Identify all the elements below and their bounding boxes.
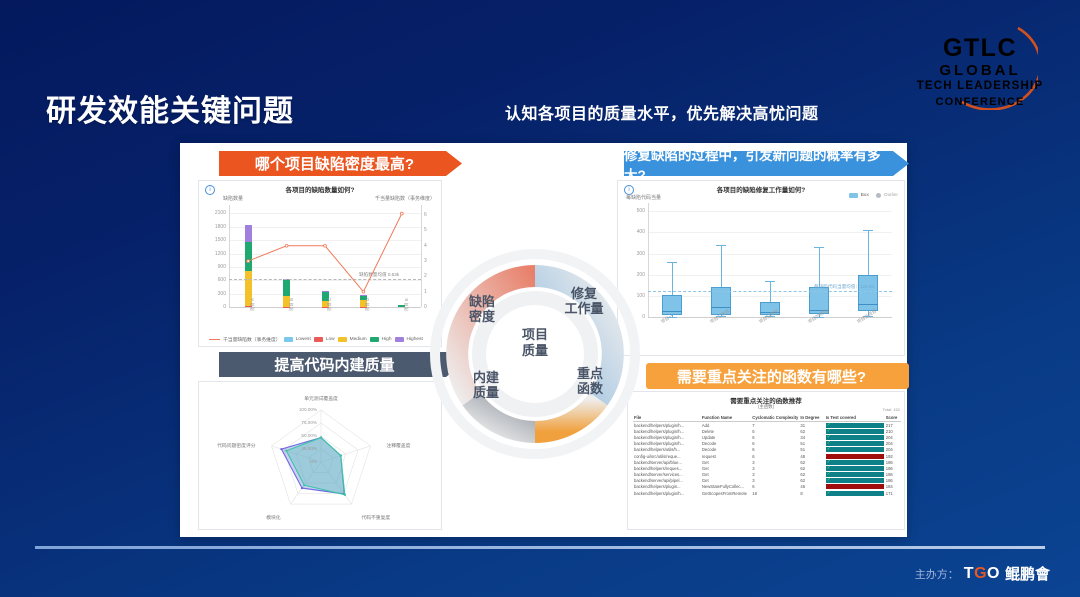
radar-axis-label: 单元测试覆盖度 xyxy=(304,395,338,402)
cell-test-covered xyxy=(825,453,885,459)
cell-in-degree: 31 xyxy=(799,422,824,429)
axis-line xyxy=(229,205,230,307)
cell-score: 217 xyxy=(885,422,901,429)
radar-chart: 单元测试覆盖度注释覆盖度代码不重复度模块化代码问题密度评分0%25.00%50.… xyxy=(199,396,443,528)
table-subtitle: (主函数) xyxy=(628,404,904,410)
y-tick: 2100 xyxy=(203,210,226,216)
x-tick: 项目 A xyxy=(250,298,256,311)
box xyxy=(662,295,682,316)
table-header-cell: Is Test covered xyxy=(825,414,885,422)
table-total: Total: 152 xyxy=(883,407,900,412)
x-tick: 项目 C xyxy=(327,298,333,311)
y-tick: 1500 xyxy=(203,237,226,243)
y-tick: 900 xyxy=(203,264,226,270)
chart-card-defect-count: i 各项目的缺陷数量如何? 缺陷数量 千当量缺陷数（事务维度） 21001800… xyxy=(198,180,442,347)
footer-divider xyxy=(35,546,1045,549)
legend-swatch xyxy=(284,337,293,342)
radar-tick: 75.00% xyxy=(301,420,317,425)
check-icon: ✓ xyxy=(827,472,831,477)
cell-test-covered: ✓ xyxy=(825,459,885,465)
y-tick: 0 xyxy=(203,304,226,310)
radar-axis-label: 注释覆盖度 xyxy=(386,442,410,449)
chart-card-radar: 单元测试覆盖度注释覆盖度代码不重复度模块化代码问题密度评分0%25.00%50.… xyxy=(198,381,442,530)
chart-card-fix-effort: i 各项目的缺陷修复工作量如何? 每缺陷代码当量 BoxOutlier 0100… xyxy=(617,180,905,356)
bar-segment xyxy=(245,225,252,242)
y-tick: 1200 xyxy=(203,251,226,257)
average-line-label: 缺陷数量均值 0.63k xyxy=(359,272,399,278)
logo-line-global: GLOBAL xyxy=(914,62,1046,79)
page-title: 研发效能关键问题 xyxy=(46,86,294,130)
table-header-cell: Score xyxy=(885,414,901,422)
cell-test-covered: ✓ xyxy=(825,490,885,496)
median-line xyxy=(662,311,682,312)
stacked-bar xyxy=(283,209,290,307)
footer-brand-cn: 鲲鹏會 xyxy=(1005,563,1050,584)
radar-tick: 25.00% xyxy=(301,446,317,451)
cell-function: NewStateFullyCollec... xyxy=(701,484,751,490)
median-line xyxy=(858,304,878,305)
cell-function: GetScopesFromRemote xyxy=(701,490,751,496)
average-line xyxy=(229,279,421,280)
legend-label: Lowest xyxy=(296,337,311,342)
footer: 主办方： TGO 鲲鹏會 xyxy=(915,563,1050,584)
logo-line-gtlc: GTLC xyxy=(914,34,1046,63)
cell-cyclomatic-complexity: 7 xyxy=(751,422,799,429)
y-tick: 400 xyxy=(624,229,645,235)
y-tick: 600 xyxy=(203,277,226,283)
bar-segment xyxy=(360,295,367,296)
check-icon: ✓ xyxy=(827,429,831,434)
cell-test-covered: ✓ xyxy=(825,447,885,453)
whisker-cap xyxy=(667,262,677,263)
radar-svg xyxy=(199,396,443,528)
cell-test-covered: ✓ xyxy=(825,441,885,447)
whisker-cap xyxy=(716,245,726,246)
bar-segment xyxy=(283,280,290,296)
legend-label: Highest xyxy=(407,337,423,342)
gridline xyxy=(648,254,892,255)
table-row[interactable]: backend/helpers/plugin/h...GetScopesFrom… xyxy=(633,490,901,496)
slide-root: 研发效能关键问题 认知各项目的质量水平，优先解决高忧问题 GTLC GLOBAL… xyxy=(0,0,1080,597)
key-functions-table: FileFunction NameCyclomatic ComplexityIn… xyxy=(633,414,901,496)
axis-line xyxy=(421,205,422,307)
legend-defect-count: 千当量缺陷数（事务维度）LowestLowMediumHighHighest xyxy=(209,336,423,343)
legend-label: Low xyxy=(326,337,335,342)
stacked-bar xyxy=(322,209,329,307)
check-icon: ✓ xyxy=(827,478,831,483)
y-tick: 300 xyxy=(203,291,226,297)
whisker-cap xyxy=(765,281,775,282)
check-icon: ✓ xyxy=(827,423,831,428)
radar-tick: 100.00% xyxy=(299,407,317,412)
table-header-cell: File xyxy=(633,414,701,422)
cell-score: 171 xyxy=(885,490,901,496)
x-tick: 项目 B xyxy=(289,298,295,311)
stacked-bar xyxy=(398,209,405,307)
stacked-bar xyxy=(245,209,252,307)
center-donut: 缺陷密度 修复工作量 重点函数 内建质量 项目质量 xyxy=(430,249,640,459)
legend-swatch xyxy=(314,337,323,342)
legend-label: 千当量缺陷数（事务维度） xyxy=(223,336,281,343)
cell-test-covered: ✓ xyxy=(825,478,885,484)
logo-line-conference: CONFERENCE xyxy=(914,96,1046,108)
donut-label-built-in-quality: 内建质量 xyxy=(456,371,516,401)
box xyxy=(858,275,878,311)
stacked-bar xyxy=(360,209,367,307)
legend-swatch xyxy=(370,337,379,342)
radar-axis-label: 代码不重复度 xyxy=(361,514,390,521)
bar-segment xyxy=(245,242,252,271)
cell-in-degree: 8 xyxy=(799,490,824,496)
donut-label-fix-effort: 修复工作量 xyxy=(548,287,620,317)
cell-test-covered: ✓ xyxy=(825,428,885,434)
logo-line-tech-leadership: TECH LEADERSHIP xyxy=(914,80,1046,92)
gtlc-logo: GTLC GLOBAL TECH LEADERSHIP CONFERENCE xyxy=(914,12,1046,116)
whisker-cap xyxy=(814,247,824,248)
check-icon: ✓ xyxy=(827,466,831,471)
donut-center-label: 项目质量 xyxy=(485,327,585,360)
y-tick: 500 xyxy=(624,208,645,214)
cell-test-covered: ✓ xyxy=(825,472,885,478)
page-subtitle: 认知各项目的质量水平，优先解决高忧问题 xyxy=(505,100,819,124)
x-tick: 项目 E xyxy=(404,298,410,311)
legend-swatch xyxy=(395,337,404,342)
gridline xyxy=(648,275,892,276)
legend-swatch xyxy=(338,337,347,342)
y-axis-line xyxy=(648,203,649,317)
chart-card-key-functions: 需要重点关注的函数推荐 (主函数) Total: 152 FileFunctio… xyxy=(627,391,905,530)
legend-label: Medium xyxy=(350,337,367,342)
radar-axis-label: 代码问题密度评分 xyxy=(217,442,255,449)
y2-tick: 6 xyxy=(424,212,436,218)
table-header-cell: Cyclomatic Complexity xyxy=(751,414,799,422)
cell-test-covered xyxy=(825,484,885,490)
donut-label-defect-density: 缺陷密度 xyxy=(452,295,512,325)
radar-axis-label: 模块化 xyxy=(266,514,280,521)
cell-test-covered: ✓ xyxy=(825,434,885,440)
cell-test-covered: ✓ xyxy=(825,422,885,429)
legend-line-swatch xyxy=(209,339,220,341)
cell-file: backend/helpers/plugin/h... xyxy=(633,422,701,429)
average-line-label: 每缺陷代码当量均值：120.64 xyxy=(814,284,874,290)
banner-fix-probability: 修复缺陷的过程中，引发新问题的概率有多大? xyxy=(624,151,909,176)
banner-key-functions: 需要重点关注的函数有哪些? xyxy=(646,363,909,389)
check-icon: ✓ xyxy=(827,460,831,465)
x-tick: 项目 D xyxy=(365,298,371,311)
legend-label: High xyxy=(382,337,392,342)
gridline xyxy=(648,211,892,212)
radar-tick: 50.00% xyxy=(301,433,317,438)
table-body: backend/helpers/plugin/h...Add731✓217bac… xyxy=(633,422,901,497)
cell-cyclomatic-complexity: 18 xyxy=(751,490,799,496)
y2-tick: 5 xyxy=(424,227,436,233)
table-row[interactable]: backend/helpers/plugin/h...Add731✓217 xyxy=(633,422,901,429)
whisker-cap xyxy=(863,230,873,231)
footer-organizer-label: 主办方： xyxy=(915,566,959,582)
radar-tick: 0% xyxy=(310,459,317,464)
average-line xyxy=(648,291,892,292)
table-header-cell: Function Name xyxy=(701,414,751,422)
table-header-cell: In Degree xyxy=(799,414,824,422)
check-icon: ✓ xyxy=(827,435,831,440)
cell-function: Add xyxy=(701,422,751,429)
check-icon: ✓ xyxy=(827,441,831,446)
cell-test-covered: ✓ xyxy=(825,465,885,471)
banner-defect-density: 哪个项目缺陷密度最高? xyxy=(219,151,462,176)
check-icon: ✓ xyxy=(827,491,831,496)
x-axis xyxy=(229,307,421,308)
y2-tick: 4 xyxy=(424,243,436,249)
y-tick: 1800 xyxy=(203,224,226,230)
footer-brand-tgo: TGO xyxy=(964,565,1000,583)
gridline xyxy=(648,232,892,233)
cell-file: backend/helpers/plugin/h... xyxy=(633,490,701,496)
donut-label-key-functions: 重点函数 xyxy=(560,367,620,397)
check-icon: ✓ xyxy=(827,447,831,452)
banner-built-in-quality: 提高代码内建质量 xyxy=(219,352,462,377)
table-header-row: FileFunction NameCyclomatic ComplexityIn… xyxy=(633,414,901,422)
